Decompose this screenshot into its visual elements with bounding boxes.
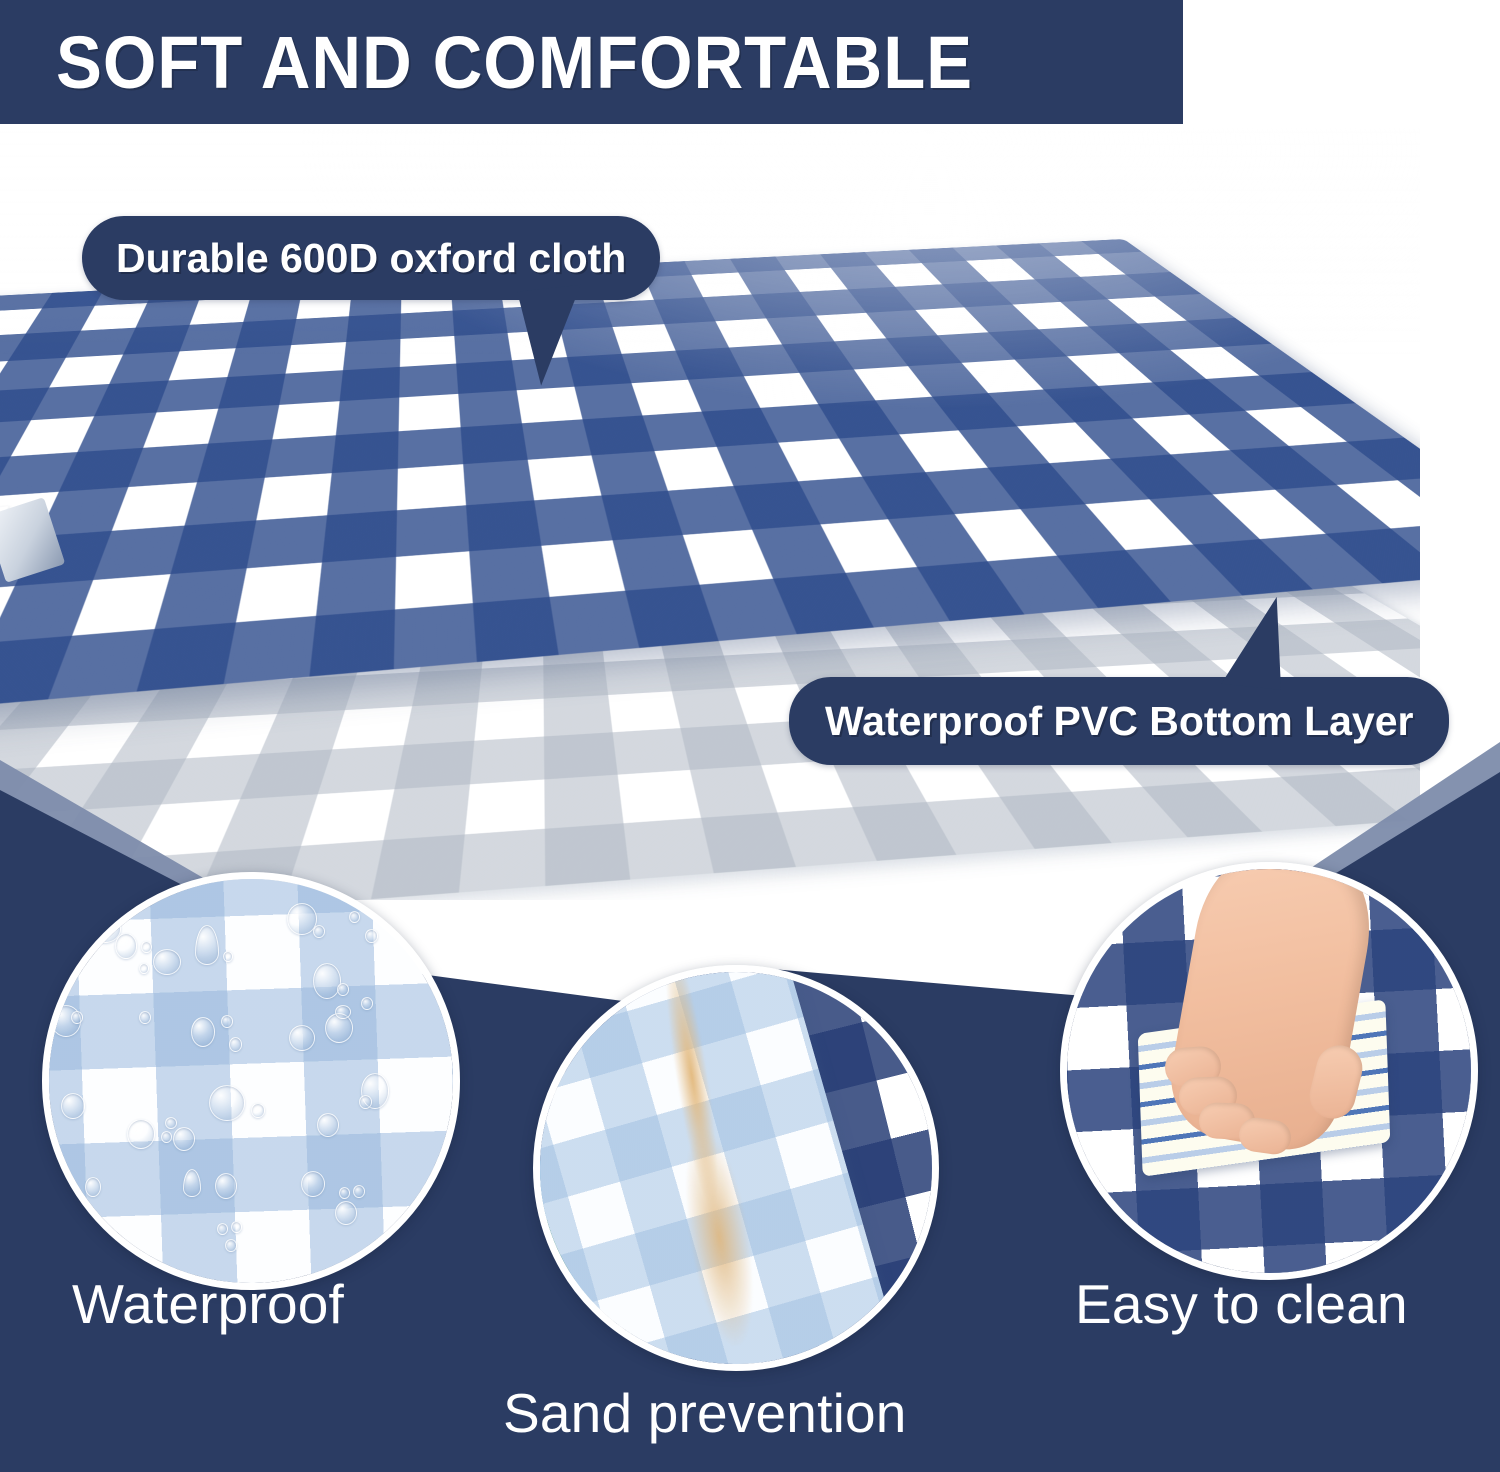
sand-image-circle [533, 965, 939, 1371]
feature-waterproof-caption: Waterproof [72, 1272, 344, 1336]
easy-to-clean-image-circle [1060, 862, 1478, 1280]
hero-product-photo [0, 0, 1500, 900]
callout-oxford-label: Durable 600D oxford cloth [116, 235, 626, 282]
callout-pvc-layer: Waterproof PVC Bottom Layer [789, 677, 1449, 765]
waterproof-image-circle [42, 872, 460, 1290]
infographic-page: SOFT AND COMFORTABLE Durable 600D oxford… [0, 0, 1500, 1472]
feature-clean-caption: Easy to clean [1075, 1272, 1408, 1336]
callout-pvc-label: Waterproof PVC Bottom Layer [825, 698, 1413, 745]
feature-sand-caption: Sand prevention [503, 1381, 907, 1445]
callout-tail-icon [1221, 592, 1290, 690]
header-banner: SOFT AND COMFORTABLE [0, 0, 1183, 124]
callout-oxford-cloth: Durable 600D oxford cloth [82, 216, 660, 300]
callout-tail-icon [517, 285, 591, 387]
photo-right-mask [1420, 0, 1500, 900]
page-title: SOFT AND COMFORTABLE [56, 16, 973, 110]
